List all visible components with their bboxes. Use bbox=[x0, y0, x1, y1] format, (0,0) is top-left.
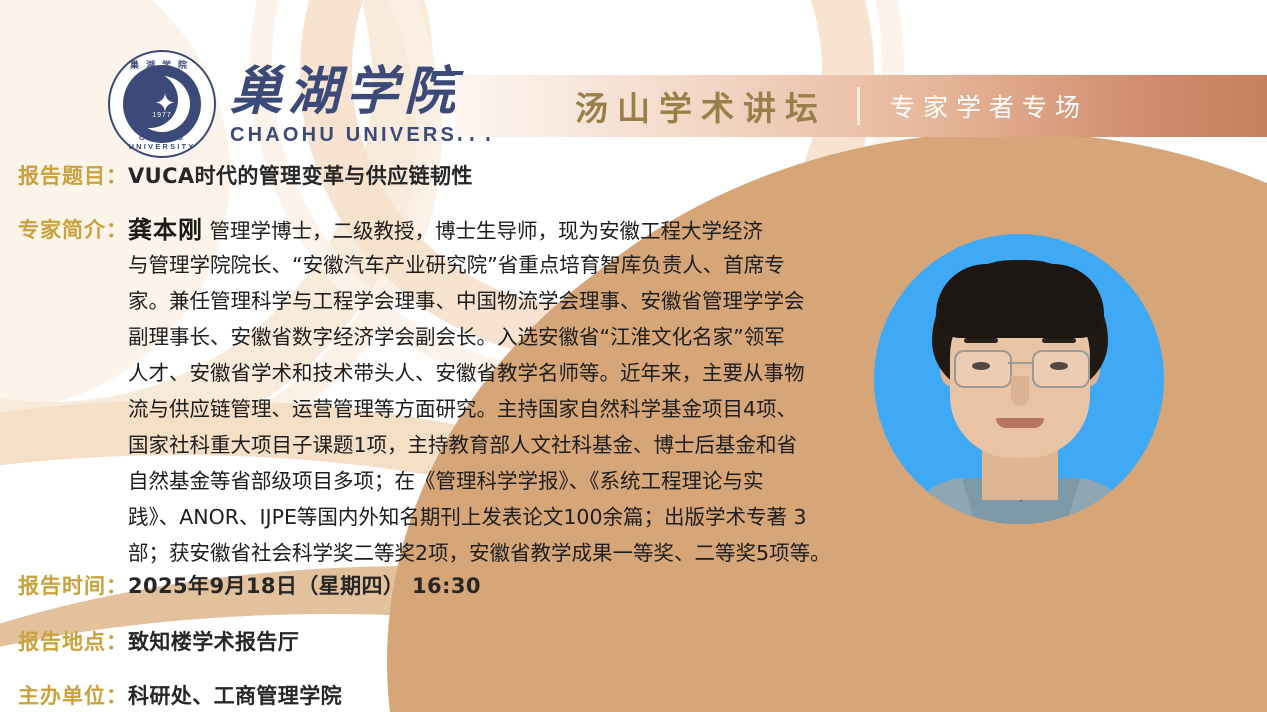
speaker-portrait bbox=[874, 234, 1164, 524]
portrait-eyebrow-left bbox=[964, 338, 998, 343]
bio-line-text: 管理学博士，二级教授，博士生导师，现为安徽工程大学经济 bbox=[203, 219, 763, 243]
bio-line: 部；获安徽省社会科学奖二等奖2项，安徽省教学成果一等奖、二等奖5项等。 bbox=[128, 535, 856, 571]
row-report-place: 报告地点： 致知楼学术报告厅 bbox=[18, 626, 299, 656]
label-report-title: 报告题目： bbox=[18, 160, 128, 190]
portrait-eyebrow-right bbox=[1042, 338, 1076, 343]
speaker-bio-body: 龚本刚 管理学博士，二级教授，博士生导师，现为安徽工程大学经济 与管理学院院长、… bbox=[128, 214, 856, 571]
portrait-glasses-left bbox=[954, 350, 1012, 388]
banner-title: 汤山学术讲坛 bbox=[575, 82, 827, 130]
portrait-mouth bbox=[996, 418, 1044, 428]
row-report-title: 报告题目： VUCA时代的管理变革与供应链韧性 bbox=[18, 160, 473, 190]
bio-line: 流与供应链管理、运营管理等方面研究。主持国家自然科学基金项目4项、 bbox=[128, 391, 856, 427]
bio-line: 国家社科重大项目子课题1项，主持教育部人文社科基金、博士后基金和省 bbox=[128, 427, 856, 463]
label-host-org: 主办单位： bbox=[18, 680, 128, 710]
value-report-title: VUCA时代的管理变革与供应链韧性 bbox=[128, 160, 473, 190]
seal-english-label: CHAOHU UNIVERSITY bbox=[110, 133, 214, 151]
speaker-name: 龚本刚 bbox=[128, 216, 203, 244]
label-speaker-bio: 专家简介： bbox=[18, 214, 128, 244]
forum-banner: 汤山学术讲坛 专家学者专场 bbox=[455, 75, 1267, 137]
label-report-time: 报告时间： bbox=[18, 570, 128, 600]
row-host-org: 主办单位： 科研处、工商管理学院 bbox=[18, 680, 342, 710]
bio-line: 与管理学院院长、“安徽汽车产业研究院”省重点培育智库负责人、首席专 bbox=[128, 247, 856, 283]
university-seal-icon: ✦ 巢湖学院 1977 CHAOHU UNIVERSITY bbox=[108, 50, 216, 158]
portrait-glasses-bridge bbox=[1008, 362, 1032, 364]
banner-divider bbox=[857, 87, 860, 125]
banner-subtitle: 专家学者专场 bbox=[890, 88, 1088, 124]
seal-year-label: 1977 bbox=[110, 112, 214, 119]
university-logo: ✦ 巢湖学院 1977 CHAOHU UNIVERSITY 巢湖学院 CHAOH… bbox=[108, 50, 498, 158]
bio-line: 自然基金等省部级项目多项；在《管理科学学报》、《系统工程理论与实 bbox=[128, 463, 856, 499]
value-report-place: 致知楼学术报告厅 bbox=[128, 626, 299, 656]
poster-canvas: ✦ 巢湖学院 1977 CHAOHU UNIVERSITY 巢湖学院 CHAOH… bbox=[0, 0, 1267, 712]
bio-line: 家。兼任管理科学与工程学会理事、中国物流学会理事、安徽省管理学学会 bbox=[128, 283, 856, 319]
label-report-place: 报告地点： bbox=[18, 626, 128, 656]
bio-line: 龚本刚 管理学博士，二级教授，博士生导师，现为安徽工程大学经济 bbox=[128, 214, 856, 247]
seal-top-label: 巢湖学院 bbox=[110, 58, 214, 71]
value-host-org: 科研处、工商管理学院 bbox=[128, 680, 342, 710]
portrait-glasses-right bbox=[1032, 350, 1090, 388]
portrait-fringe bbox=[936, 264, 1104, 338]
value-report-time: 2025年9月18日（星期四） 16:30 bbox=[128, 570, 481, 600]
row-report-time: 报告时间： 2025年9月18日（星期四） 16:30 bbox=[18, 570, 481, 600]
bio-line: 践》、ANOR、IJPE等国内外知名期刊上发表论文100余篇；出版学术专著 3 bbox=[128, 499, 856, 535]
bio-line: 人才、安徽省学术和技术带头人、安徽省教学名师等。近年来，主要从事物 bbox=[128, 355, 856, 391]
bio-line: 副理事长、安徽省数字经济学会副会长。入选安徽省“江淮文化名家”领军 bbox=[128, 319, 856, 355]
row-speaker-bio: 专家简介： 龚本刚 管理学博士，二级教授，博士生导师，现为安徽工程大学经济 与管… bbox=[18, 214, 856, 571]
portrait-nose bbox=[1011, 376, 1029, 406]
